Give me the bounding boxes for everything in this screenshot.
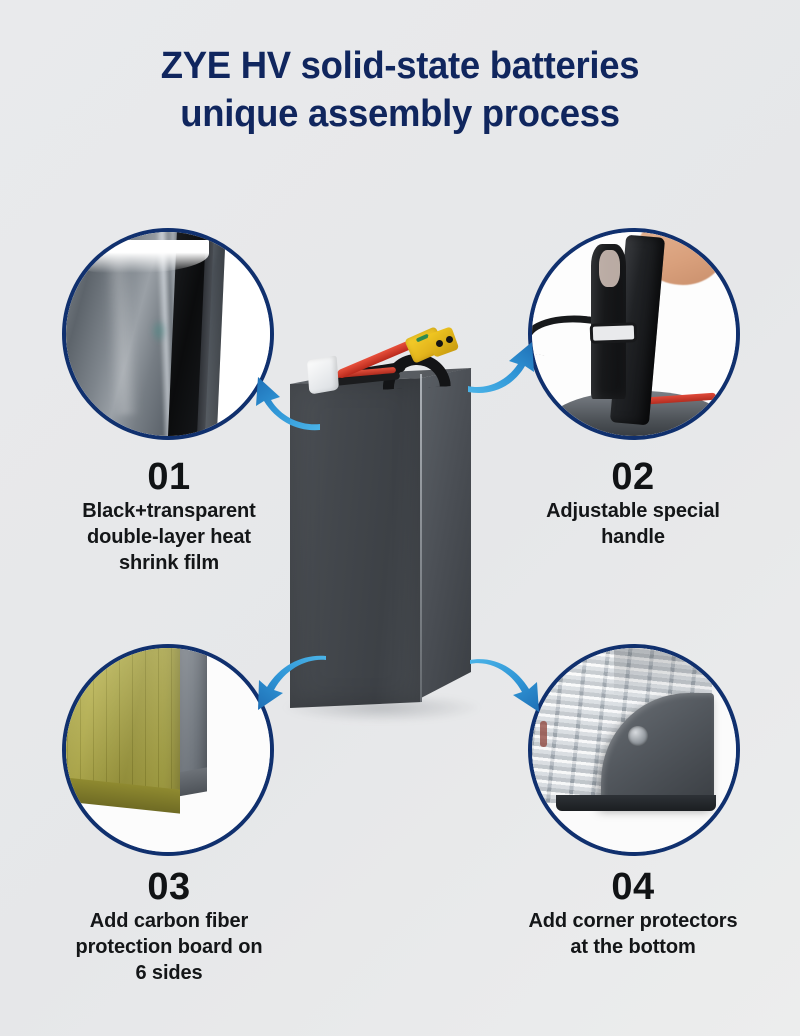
step-description-01-line-3: shrink film [24, 550, 314, 576]
step-description-03-line-2: protection board on [24, 934, 314, 960]
carbon-fiber-board-photo [66, 648, 270, 852]
heat-shrink-film-photo [66, 232, 270, 436]
step-number-04: 04 [488, 866, 778, 908]
corner-protector-photo [532, 648, 736, 852]
step-caption-04: 04 Add corner protectors at the bottom [488, 866, 778, 960]
arrow-to-step-03 [246, 652, 330, 724]
step-photo-circle-04 [528, 644, 740, 856]
battery-corner-edge [420, 374, 422, 702]
step-caption-03: 03 Add carbon fiber protection board on … [24, 866, 314, 986]
step-photo-circle-03 [62, 644, 274, 856]
step-description-01-line-2: double-layer heat [24, 524, 314, 550]
title-line-1: ZYE HV solid-state batteries [16, 42, 784, 90]
battery-side-face [421, 368, 471, 698]
step-number-02: 02 [488, 456, 778, 498]
step-caption-02: 02 Adjustable special handle [488, 456, 778, 550]
adjustable-handle-photo [532, 232, 736, 436]
arrow-to-step-02 [466, 332, 546, 396]
step-description-03-line-3: 6 sides [24, 960, 314, 986]
step-description-01-line-1: Black+transparent [24, 498, 314, 524]
step-number-01: 01 [24, 456, 314, 498]
step-description-04-line-1: Add corner protectors [488, 908, 778, 934]
arrow-to-step-04 [466, 654, 552, 726]
step-description-03-line-1: Add carbon fiber [24, 908, 314, 934]
connector-pin-hole [446, 336, 453, 343]
step-caption-01: 01 Black+transparent double-layer heat s… [24, 456, 314, 576]
page-title: ZYE HV solid-state batteries unique asse… [0, 42, 800, 138]
step-description-02-line-1: Adjustable special [488, 498, 778, 524]
step-description-02-line-2: handle [488, 524, 778, 550]
step-photo-circle-02 [528, 228, 740, 440]
step-photo-circle-01 [62, 228, 274, 440]
connector-pin-hole [436, 340, 443, 347]
step-number-03: 03 [24, 866, 314, 908]
title-line-2: unique assembly process [16, 90, 784, 138]
arrow-to-step-01 [244, 366, 324, 436]
step-description-04-line-2: at the bottom [488, 934, 778, 960]
infographic-page: ZYE HV solid-state batteries unique asse… [0, 0, 800, 1036]
